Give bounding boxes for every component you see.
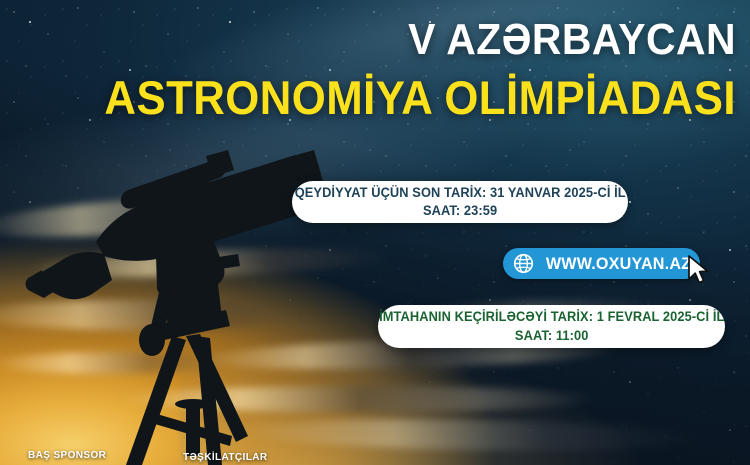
website-url-label: WWW.OXUYAN.AZ bbox=[546, 254, 691, 274]
website-link-button[interactable]: WWW.OXUYAN.AZ bbox=[503, 248, 700, 279]
page-title: V AZƏRBAYCAN ASTRONOMİYA OLİMPİADASI bbox=[0, 18, 736, 121]
title-line-2: ASTRONOMİYA OLİMPİADASI bbox=[52, 74, 736, 121]
main-sponsor-label: BAŞ SPONSOR bbox=[28, 450, 106, 461]
telescope-silhouette bbox=[0, 150, 330, 465]
exam-time: SAAT: 11:00 bbox=[515, 327, 589, 345]
registration-deadline-time: SAAT: 23:59 bbox=[423, 202, 497, 220]
exam-date-pill: İMTAHANIN KEÇİRİLƏCƏYİ TARİX: 1 FEVRAL 2… bbox=[378, 305, 725, 348]
exam-date: İMTAHANIN KEÇİRİLƏCƏYİ TARİX: 1 FEVRAL 2… bbox=[379, 308, 724, 326]
organizers-label: TƏŞKİLATÇILAR bbox=[183, 452, 268, 463]
globe-icon bbox=[513, 253, 534, 274]
astronomy-olympiad-poster: V AZƏRBAYCAN ASTRONOMİYA OLİMPİADASI QEY… bbox=[0, 0, 750, 465]
registration-deadline-date: QEYDİYYAT ÜÇÜN SON TARİX: 31 YANVAR 2025… bbox=[294, 184, 625, 202]
registration-deadline-pill: QEYDİYYAT ÜÇÜN SON TARİX: 31 YANVAR 2025… bbox=[292, 181, 628, 223]
title-line-1: V AZƏRBAYCAN bbox=[52, 18, 736, 62]
